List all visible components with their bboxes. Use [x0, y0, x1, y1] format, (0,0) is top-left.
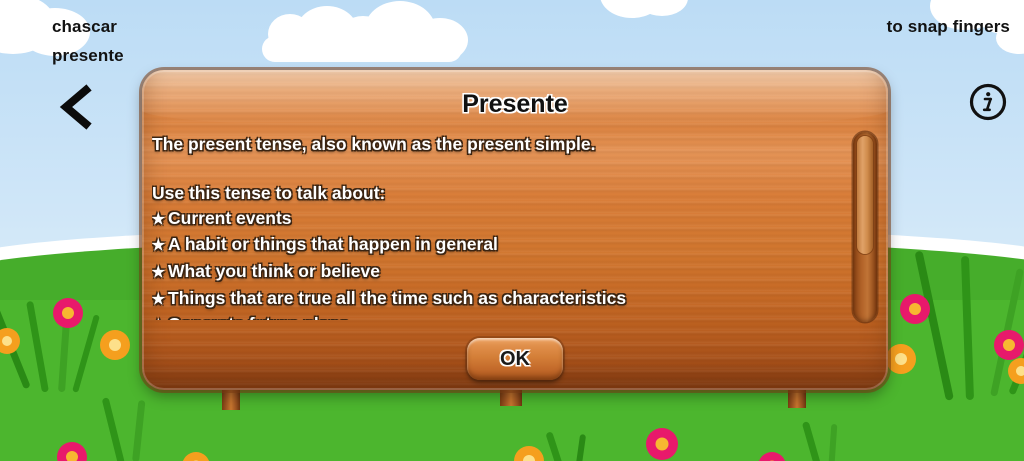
cloud	[262, 36, 462, 62]
info-button[interactable]	[968, 82, 1008, 122]
ok-button[interactable]: OK	[467, 338, 563, 380]
info-circle-icon	[968, 82, 1008, 122]
vocab-word-source: chascar	[52, 17, 117, 37]
dialog-bullet-item: ✭A habit or things that happen in genera…	[152, 232, 852, 259]
flower	[886, 344, 916, 374]
dialog-bullet-text: A habit or things that happen in general	[168, 234, 498, 254]
star-bullet-icon: ✭	[152, 288, 168, 313]
vocab-word-translation: to snap fingers	[887, 17, 1010, 37]
dialog-bullet-text: Things that are true all the time such a…	[168, 288, 626, 308]
star-bullet-icon: ✭	[152, 261, 168, 286]
vertical-scrollbar[interactable]	[853, 132, 877, 322]
dialog-paragraph: Use this tense to talk about:	[152, 181, 852, 206]
flower	[100, 330, 130, 360]
flower	[646, 428, 678, 460]
star-bullet-icon: ✭	[152, 314, 168, 320]
dialog-bullet-text: Current events	[168, 208, 292, 228]
dialog-bullet-item: ✭Things that are true all the time such …	[152, 286, 852, 313]
dialog-line-spacer	[152, 157, 852, 182]
dialog-body-scroll-area[interactable]: The present tense, also known as the pre…	[152, 132, 852, 320]
info-dialog: Presente The present tense, also known a…	[142, 70, 888, 390]
dialog-bullet-item: ✭What you think or believe	[152, 259, 852, 286]
dialog-bullet-item: ✭Current events	[152, 206, 852, 233]
flower	[994, 330, 1024, 360]
star-bullet-icon: ✭	[152, 234, 168, 259]
dialog-bullet-item: ✭Concrete future plans	[152, 312, 852, 320]
scrollbar-thumb[interactable]	[857, 136, 873, 254]
dialog-title: Presente	[142, 90, 888, 119]
flower	[900, 294, 930, 324]
star-bullet-icon: ✭	[152, 208, 168, 233]
flower	[53, 298, 83, 328]
dialog-paragraph: The present tense, also known as the pre…	[152, 132, 852, 157]
game-scene: chascar presente to snap fingers Present…	[0, 0, 1024, 461]
dialog-bullet-text: Concrete future plans	[168, 314, 349, 320]
vocab-tense-label: presente	[52, 46, 124, 66]
dialog-bullet-text: What you think or believe	[168, 261, 380, 281]
chevron-left-icon	[66, 90, 86, 124]
back-button[interactable]	[56, 84, 96, 130]
